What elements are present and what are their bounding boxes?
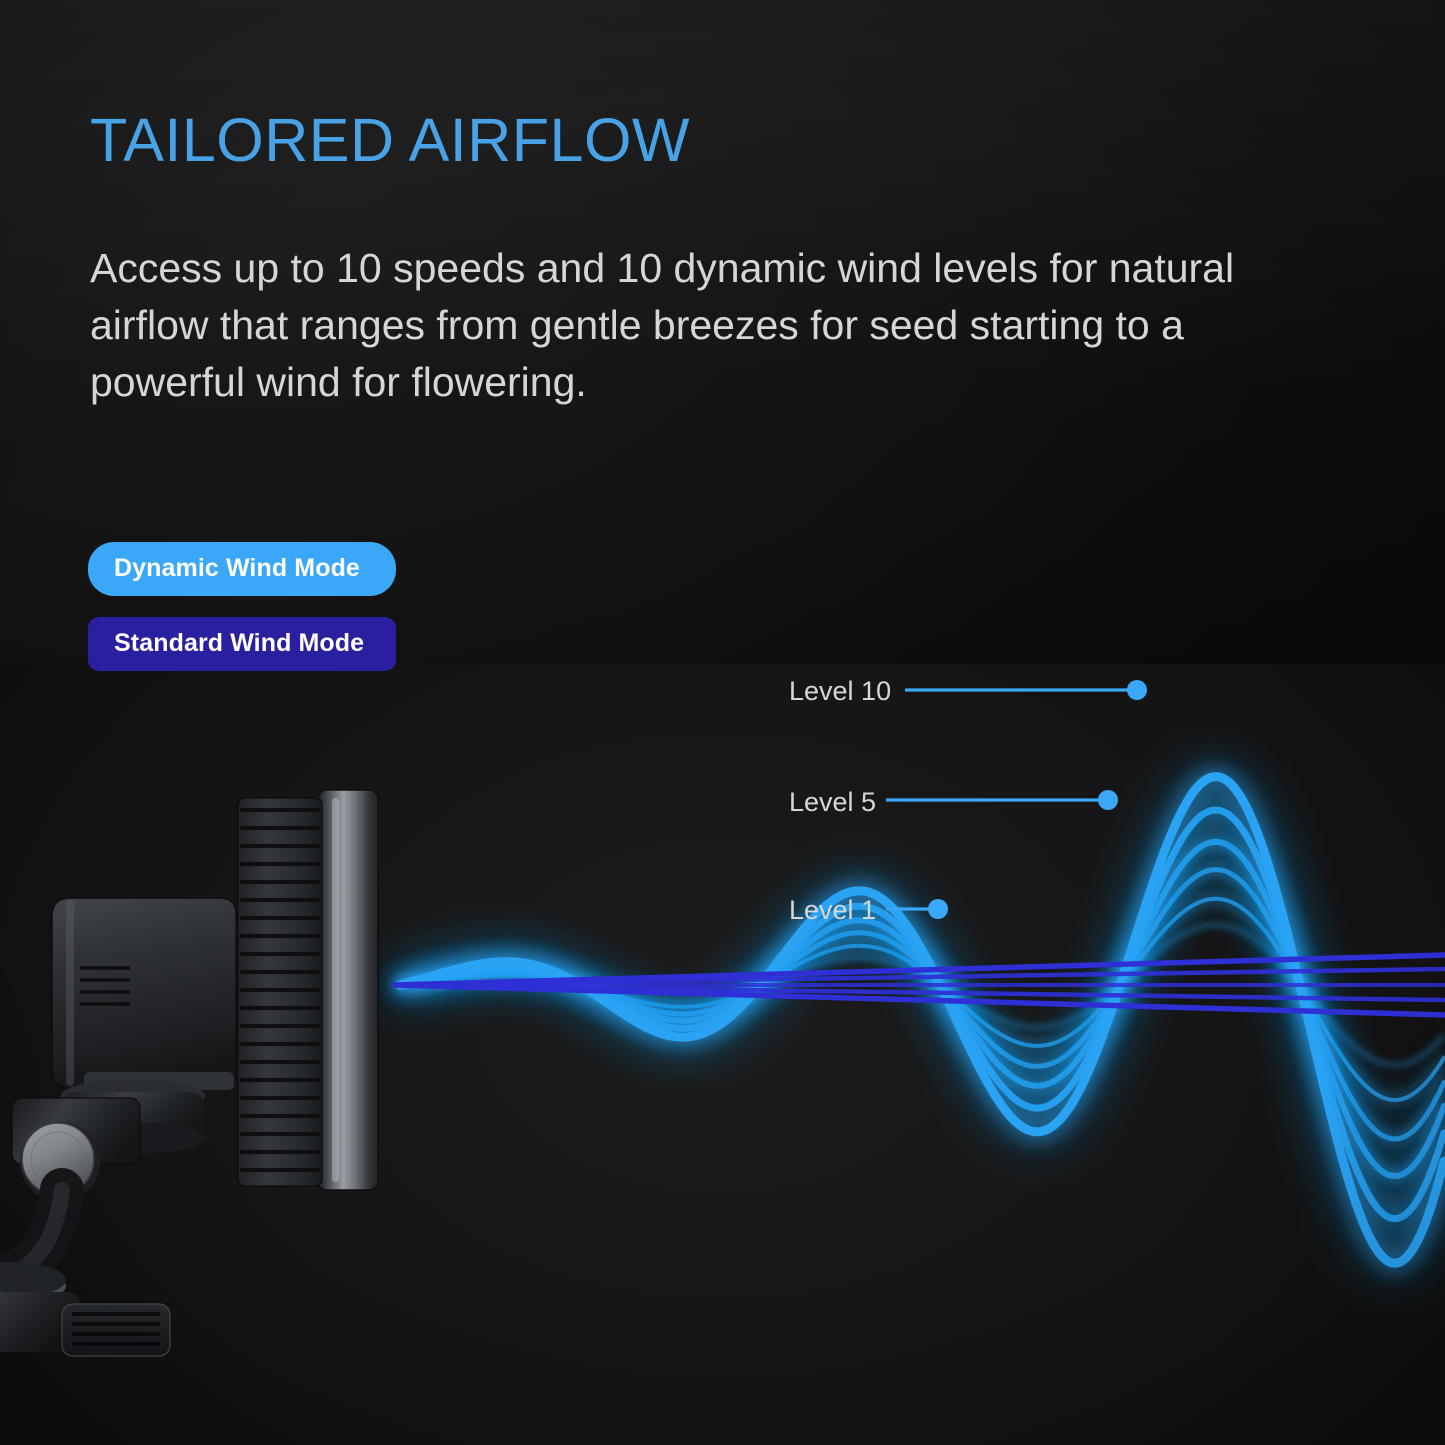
callout-dot-0 (1127, 680, 1147, 700)
callout-leader-group (0, 0, 1445, 1445)
callout-dot-1 (1098, 790, 1118, 810)
airflow-feature-panel: TAILORED AIRFLOW Access up to 10 speeds … (0, 0, 1445, 1445)
callout-dot-2 (928, 899, 948, 919)
